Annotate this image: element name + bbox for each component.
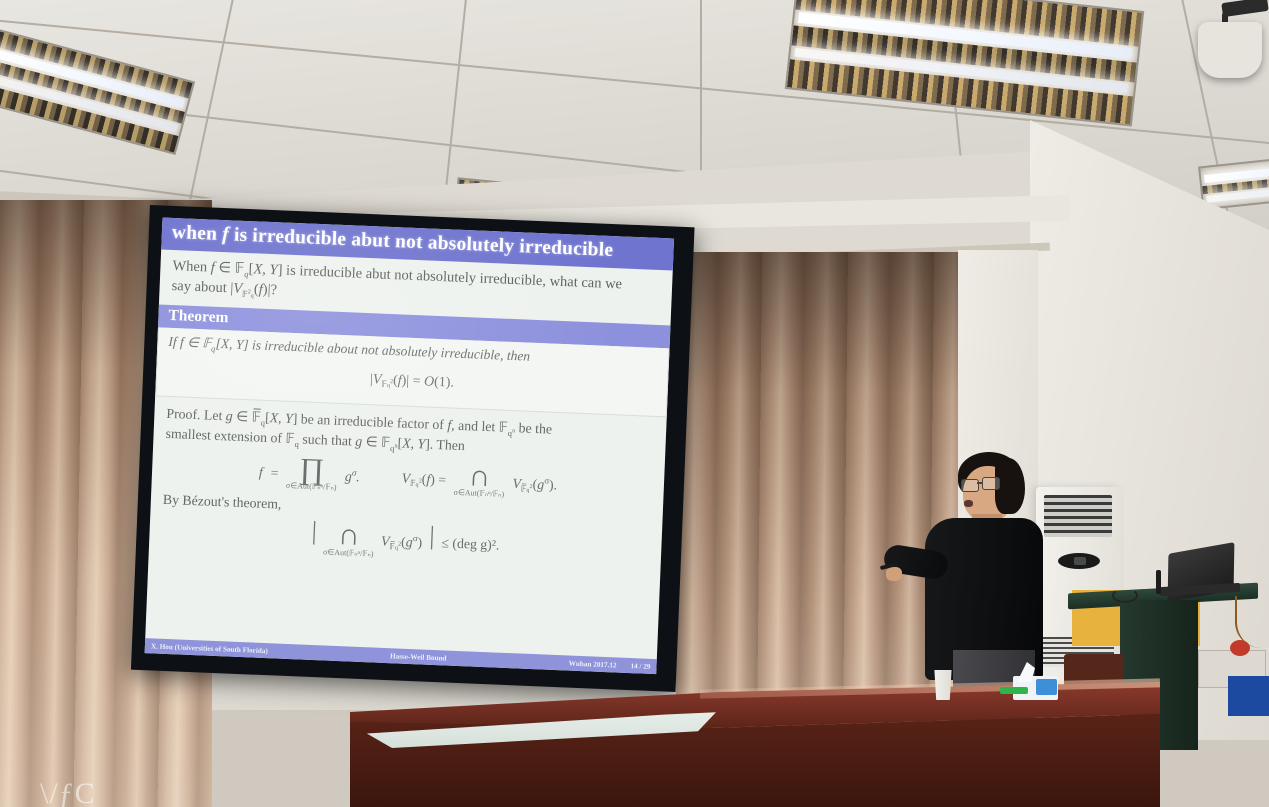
tissue-box-blue-label (1036, 679, 1057, 695)
presenter-hand (886, 567, 902, 581)
screen-surface: when f is irreducible abut not absolutel… (145, 218, 674, 675)
screen-bezel: when f is irreducible abut not absolutel… (131, 205, 695, 692)
bezout-equation: | ∩ σ∈Aut(𝔽ₙⁿ/𝔽ₙ) V𝔽̅q2(gσ) | ≤ (deg g)²… (311, 521, 500, 563)
proof-equation-right: V𝔽q2(f) = ∩ σ∈Aut(𝔽ₙⁿ/𝔽ₙ) V𝔽̅q2(gσ). (401, 460, 558, 501)
ac-top-vent (1044, 495, 1112, 537)
intersection-subscript: σ∈Aut(𝔽ₙⁿ/𝔽ₙ) (453, 489, 504, 499)
desk-cable (1112, 588, 1138, 603)
footer-venue: Wuhan 2017.12 (569, 659, 617, 669)
footer-talk-title: Hasse-Weil Bound (268, 647, 569, 667)
projection-screen: when f is irreducible abut not absolutel… (131, 205, 695, 697)
product-subscript: σ∈Aut(𝔽ₙⁿ/𝔽ₙ) (286, 482, 337, 492)
microphone (1156, 570, 1161, 594)
paper-cup (933, 670, 953, 700)
tissue-box-green-strip (1000, 687, 1028, 694)
ac-display-readout (1074, 557, 1086, 565)
curtain-right (676, 252, 966, 722)
av-rack-blue-case (1228, 676, 1269, 716)
slide-footer: X. Hou (Universities of South Florida) H… (145, 638, 657, 674)
bezout-subscript: σ∈Aut(𝔽ₙⁿ/𝔽ₙ) (323, 548, 374, 558)
eyeglasses-right-lens (982, 477, 1000, 490)
presentation-slide: when f is irreducible abut not absolutel… (145, 218, 674, 675)
slide-title-pre: when (171, 222, 222, 245)
footer-author: X. Hou (Universities of South Florida) (151, 642, 268, 655)
footer-page: 14 / 29 (630, 662, 650, 671)
eyeglasses-bridge (977, 482, 982, 484)
intersection-operator: ∩ (454, 462, 506, 490)
proof-equation-left: f= ∏ σ∈Aut(𝔽ₙⁿ/𝔽ₙ) gσ. (258, 454, 360, 493)
product-operator: ∏ (286, 455, 338, 483)
watermark: \/ƒC (40, 777, 96, 807)
presenter-mouth (964, 500, 973, 507)
ceiling-mounted-projector (1198, 22, 1262, 78)
eyeglasses-left-lens (961, 479, 979, 492)
proof-block: Proof. Let g ∈ 𝔽̅q[X, Y] be an irreducib… (149, 396, 667, 569)
lecture-photo-scene: when f is irreducible abut not absolutel… (0, 0, 1269, 807)
bezout-intersection-operator: ∩ (323, 521, 375, 549)
bezout-bound: ≤ (deg g)². (441, 526, 500, 554)
